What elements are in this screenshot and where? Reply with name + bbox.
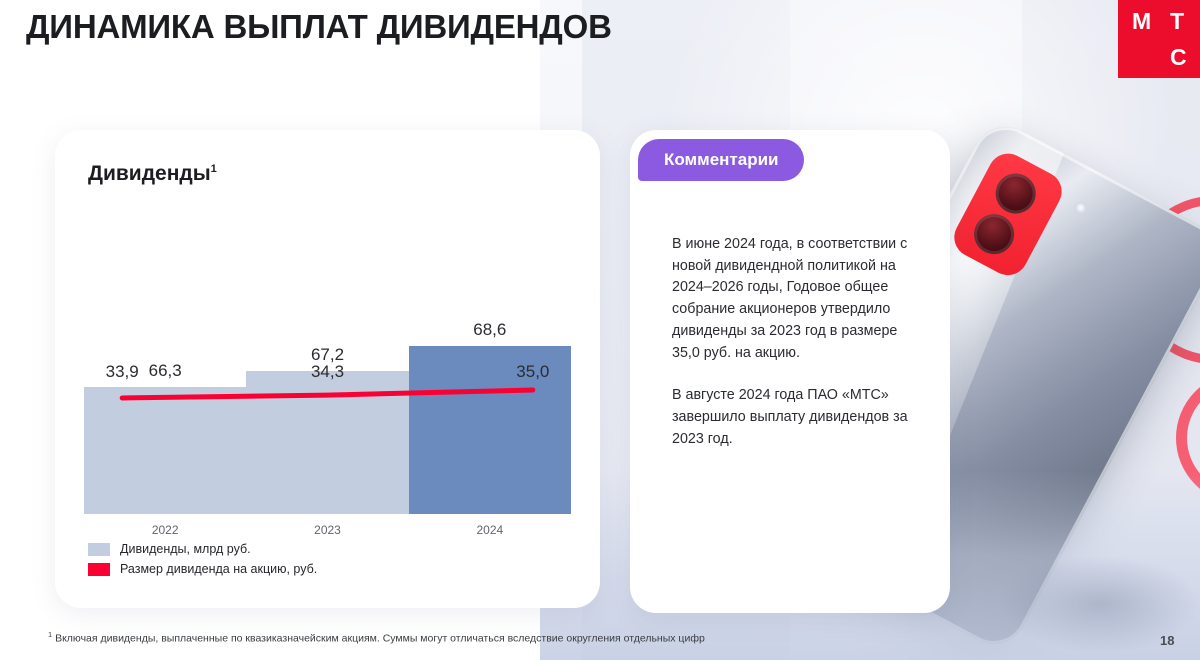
footnote-marker: 1 bbox=[48, 630, 52, 639]
chart-bar bbox=[246, 371, 408, 514]
legend-item: Дивиденды, млрд руб. bbox=[88, 542, 317, 556]
legend-swatch-bars bbox=[88, 543, 110, 556]
slide-root: ДИНАМИКА ВЫПЛАТ ДИВИДЕНДОВ М Т С Дивиден… bbox=[0, 0, 1200, 660]
mts-logo: М Т С bbox=[1118, 0, 1200, 78]
x-axis-tick-label: 2023 bbox=[246, 523, 408, 537]
logo-letter-s: С bbox=[1170, 44, 1187, 71]
chart-bar bbox=[84, 387, 246, 514]
footnote: 1 Включая дивиденды, выплаченные по кваз… bbox=[48, 630, 705, 645]
comment-paragraph: В августе 2024 года ПАО «МТС» завершило … bbox=[672, 385, 924, 450]
line-value-label: 35,0 bbox=[493, 362, 573, 382]
chart-card: Дивиденды1 66,3202267,2202368,6202433,93… bbox=[55, 130, 600, 608]
legend-item: Размер дивиденда на акцию, руб. bbox=[88, 562, 317, 576]
bar-value-label: 68,6 bbox=[409, 320, 571, 340]
legend-label: Дивиденды, млрд руб. bbox=[120, 542, 251, 556]
chart-legend: Дивиденды, млрд руб. Размер дивиденда на… bbox=[88, 542, 317, 582]
line-value-label: 34,3 bbox=[288, 362, 368, 382]
comments-badge: Комментарии bbox=[638, 139, 804, 181]
line-value-label: 33,9 bbox=[82, 362, 162, 382]
footnote-text: Включая дивиденды, выплаченные по квазик… bbox=[55, 633, 705, 645]
legend-swatch-line bbox=[88, 563, 110, 576]
chart-plot-area: 66,3202267,2202368,6202433,934,335,0 bbox=[55, 130, 600, 608]
x-axis-tick-label: 2024 bbox=[409, 523, 571, 537]
comments-text-body: В июне 2024 года, в соответствии с новой… bbox=[672, 234, 924, 471]
comment-paragraph: В июне 2024 года, в соответствии с новой… bbox=[672, 234, 924, 364]
page-number: 18 bbox=[1160, 633, 1174, 648]
page-title: ДИНАМИКА ВЫПЛАТ ДИВИДЕНДОВ bbox=[26, 8, 612, 46]
logo-letter-t: Т bbox=[1170, 8, 1184, 35]
x-axis-tick-label: 2022 bbox=[84, 523, 246, 537]
comments-card: Комментарии В июне 2024 года, в соответс… bbox=[630, 130, 950, 613]
logo-letter-m: М bbox=[1132, 8, 1152, 35]
legend-label: Размер дивиденда на акцию, руб. bbox=[120, 562, 317, 576]
